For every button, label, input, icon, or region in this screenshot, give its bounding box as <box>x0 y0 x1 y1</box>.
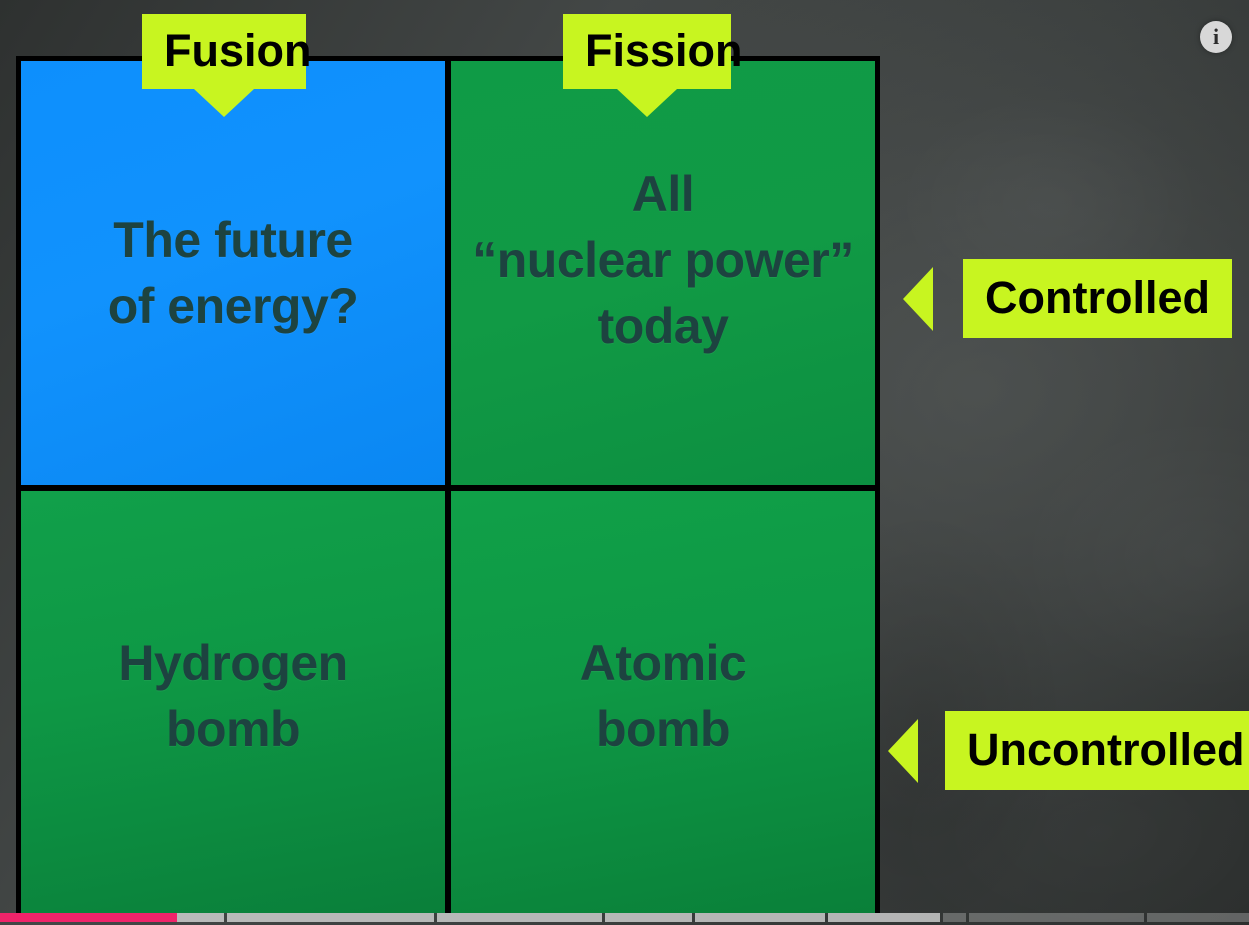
row-label-controlled: Controlled <box>903 259 1232 338</box>
progress-chapter[interactable] <box>1147 913 1249 922</box>
left-arrow-icon <box>888 719 918 783</box>
progress-chapter[interactable] <box>943 913 966 922</box>
progress-buffered <box>828 913 940 922</box>
row-label-uncontrolled: Uncontrolled <box>888 711 1249 790</box>
left-arrow-icon <box>903 267 933 331</box>
info-icon[interactable]: i <box>1200 21 1232 53</box>
video-progress-bar[interactable] <box>0 913 1249 922</box>
progress-buffered <box>605 913 693 922</box>
column-header-fusion: Fusion <box>142 14 306 89</box>
progress-chapter[interactable] <box>437 913 602 922</box>
progress-chapter[interactable] <box>828 913 940 922</box>
down-arrow-icon <box>617 89 677 117</box>
progress-buffered <box>227 913 434 922</box>
column-header-fusion-text: Fusion <box>164 25 311 76</box>
progress-chapter[interactable] <box>605 913 693 922</box>
column-header-fission: Fission <box>563 14 731 89</box>
progress-buffered <box>695 913 825 922</box>
progress-buffered <box>437 913 602 922</box>
progress-chapter[interactable] <box>695 913 825 922</box>
row-label-controlled-text: Controlled <box>963 259 1232 338</box>
progress-chapter[interactable] <box>969 913 1143 922</box>
quadrant-fusion-uncontrolled-label: Hydrogen bomb <box>118 630 347 762</box>
column-header-fission-text: Fission <box>585 25 743 76</box>
quadrant-fission-uncontrolled-label: Atomic bomb <box>580 630 746 762</box>
progress-chapter[interactable] <box>0 913 224 922</box>
quadrant-fission-controlled-label: All “nuclear power” today <box>472 161 854 359</box>
progress-chapter[interactable] <box>227 913 434 922</box>
row-label-uncontrolled-text: Uncontrolled <box>945 711 1249 790</box>
progress-played <box>0 913 177 922</box>
quadrant-fusion-controlled: The future of energy? <box>21 61 445 485</box>
info-icon-glyph: i <box>1213 26 1219 48</box>
quadrant-fusion-controlled-label: The future of energy? <box>108 207 359 339</box>
quadrant-matrix: The future of energy? All “nuclear power… <box>16 56 880 913</box>
quadrant-fission-controlled: All “nuclear power” today <box>451 61 875 485</box>
down-arrow-icon <box>194 89 254 117</box>
quadrant-fusion-uncontrolled: Hydrogen bomb <box>21 491 445 913</box>
video-frame: The future of energy? All “nuclear power… <box>0 0 1249 925</box>
quadrant-fission-uncontrolled: Atomic bomb <box>451 491 875 913</box>
